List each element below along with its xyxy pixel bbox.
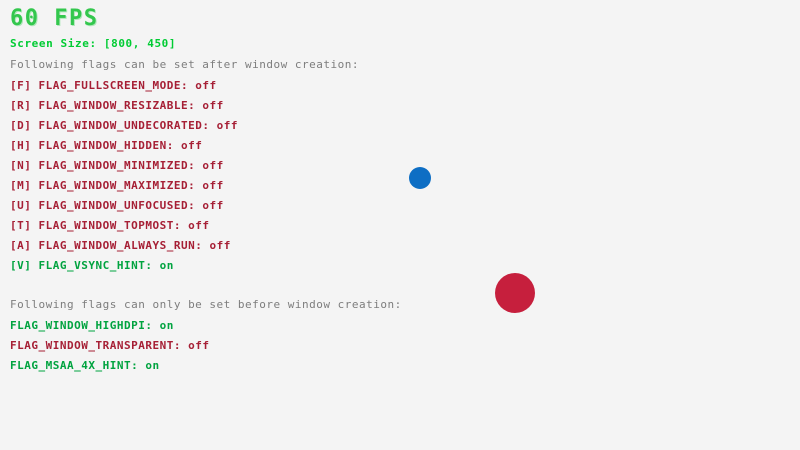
flag-key: [R] (10, 99, 39, 112)
flag-name: FLAG_WINDOW_MAXIMIZED: (39, 179, 203, 192)
flag-name: FLAG_VSYNC_HINT: (39, 259, 160, 272)
flag-key: [D] (10, 119, 39, 132)
flag-name: FLAG_WINDOW_ALWAYS_RUN: (39, 239, 210, 252)
flag-name: FLAG_WINDOW_TOPMOST: (39, 219, 189, 232)
game-window-canvas[interactable]: 60 FPS Screen Size: [800, 450] Following… (0, 0, 800, 450)
flag-value: off (195, 79, 216, 92)
flag-name: FLAG_WINDOW_HIDDEN: (39, 139, 181, 152)
flag-value: off (217, 119, 238, 132)
flag-row[interactable]: [H] FLAG_WINDOW_HIDDEN: off (10, 140, 202, 151)
flag-value: off (202, 159, 223, 172)
flag-row[interactable]: [R] FLAG_WINDOW_RESIZABLE: off (10, 100, 224, 111)
flag-name: FLAG_WINDOW_HIGHDPI: (10, 319, 160, 332)
flag-value: off (202, 179, 223, 192)
flag-row[interactable]: [N] FLAG_WINDOW_MINIMIZED: off (10, 160, 224, 171)
flag-key: [T] (10, 219, 39, 232)
fps-counter: 60 FPS (10, 8, 98, 30)
flag-value: on (145, 359, 159, 372)
startup-flags-heading: Following flags can only be set before w… (10, 299, 402, 310)
flag-name: FLAG_FULLSCREEN_MODE: (39, 79, 196, 92)
flag-row[interactable]: [V] FLAG_VSYNC_HINT: on (10, 260, 174, 271)
flag-row[interactable]: [A] FLAG_WINDOW_ALWAYS_RUN: off (10, 240, 231, 251)
flag-name: FLAG_WINDOW_RESIZABLE: (39, 99, 203, 112)
flag-value: off (188, 219, 209, 232)
runtime-flags-heading: Following flags can be set after window … (10, 59, 359, 70)
flag-row[interactable]: [M] FLAG_WINDOW_MAXIMIZED: off (10, 180, 224, 191)
flag-name: FLAG_WINDOW_MINIMIZED: (39, 159, 203, 172)
flag-name: FLAG_WINDOW_UNFOCUSED: (39, 199, 203, 212)
flag-value: off (202, 99, 223, 112)
flag-value: off (209, 239, 230, 252)
flag-key: [F] (10, 79, 39, 92)
flag-key: [H] (10, 139, 39, 152)
flag-key: [N] (10, 159, 39, 172)
flag-name: FLAG_WINDOW_UNDECORATED: (39, 119, 217, 132)
flag-value: on (160, 319, 174, 332)
flag-name: FLAG_WINDOW_TRANSPARENT: (10, 339, 188, 352)
flag-row[interactable]: FLAG_WINDOW_TRANSPARENT: off (10, 340, 209, 351)
flag-key: [M] (10, 179, 39, 192)
flag-key: [V] (10, 259, 39, 272)
flag-value: off (188, 339, 209, 352)
flag-name: FLAG_MSAA_4X_HINT: (10, 359, 145, 372)
flag-row[interactable]: [F] FLAG_FULLSCREEN_MODE: off (10, 80, 217, 91)
ball-blue (409, 167, 431, 189)
flag-value: off (202, 199, 223, 212)
flag-value: off (181, 139, 202, 152)
flag-row[interactable]: [T] FLAG_WINDOW_TOPMOST: off (10, 220, 209, 231)
ball-red (495, 273, 535, 313)
flag-value: on (160, 259, 174, 272)
flag-key: [U] (10, 199, 39, 212)
flag-row[interactable]: [U] FLAG_WINDOW_UNFOCUSED: off (10, 200, 224, 211)
flag-row[interactable]: [D] FLAG_WINDOW_UNDECORATED: off (10, 120, 238, 131)
flag-key: [A] (10, 239, 39, 252)
screen-size-label: Screen Size: [800, 450] (10, 38, 176, 49)
flag-row[interactable]: FLAG_WINDOW_HIGHDPI: on (10, 320, 174, 331)
flag-row[interactable]: FLAG_MSAA_4X_HINT: on (10, 360, 160, 371)
